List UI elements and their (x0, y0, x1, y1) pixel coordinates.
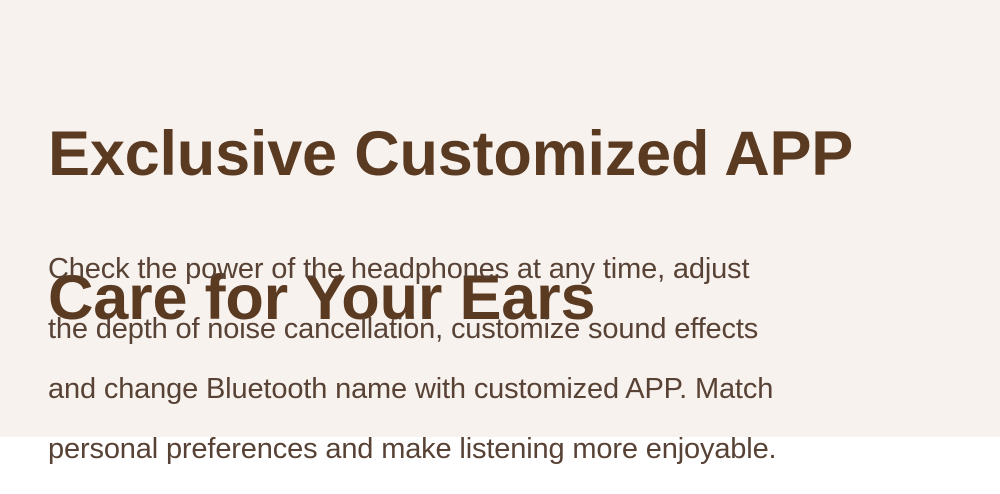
banner-description-line-3: and change Bluetooth name with customize… (48, 374, 978, 404)
banner-content: Exclusive Customized APP Care for Your E… (48, 0, 968, 437)
banner-heading-line-1: Exclusive Customized APP (48, 118, 968, 190)
banner-description: Check the power of the headphones at any… (48, 224, 978, 494)
banner-description-line-2: the depth of noise cancellation, customi… (48, 314, 978, 344)
banner-description-line-4: personal preferences and make listening … (48, 434, 978, 464)
banner-description-line-1: Check the power of the headphones at any… (48, 254, 978, 284)
promo-banner: Exclusive Customized APP Care for Your E… (0, 0, 1000, 437)
